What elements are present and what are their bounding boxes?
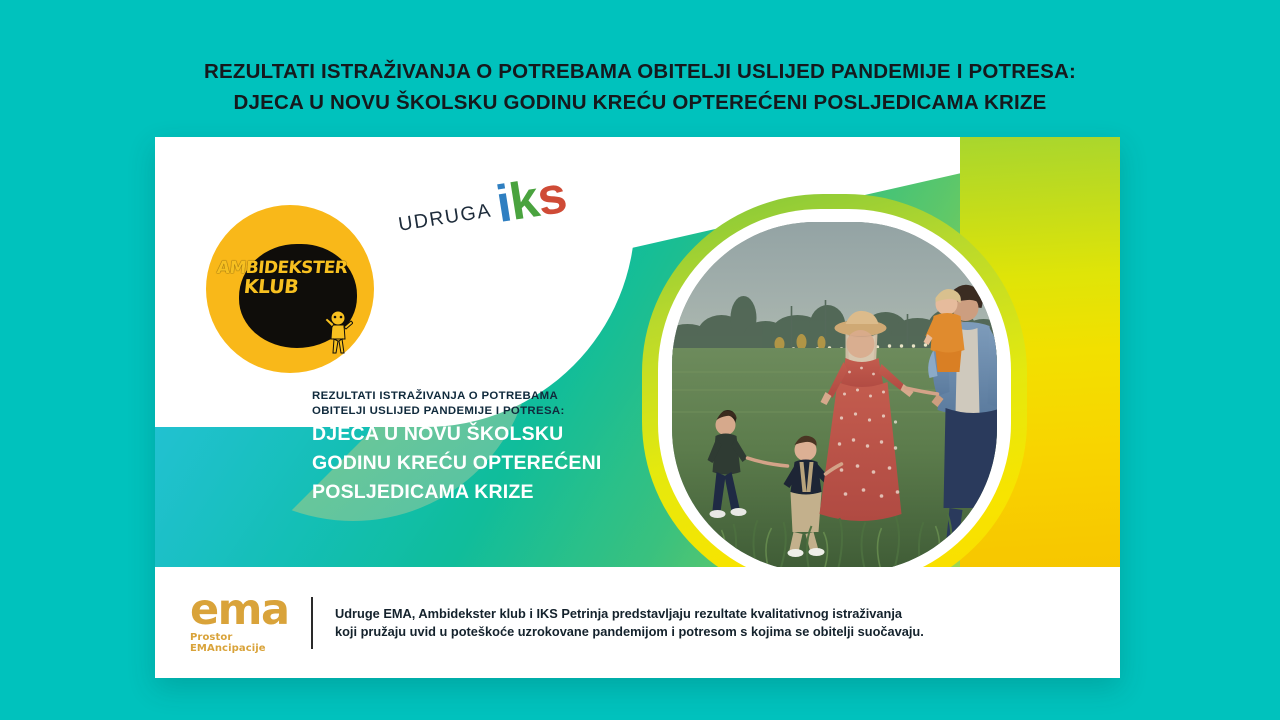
photo-frame [642, 194, 1027, 600]
inner-subtitle-line-1: REZULTATI ISTRAŽIVANJA O POTREBAMA [312, 389, 662, 404]
ema-tagline: Prostor EMAncipacije [190, 632, 307, 654]
headline-line-1: REZULTATI ISTRAŽIVANJA O POTREBAMA OBITE… [0, 56, 1280, 87]
inner-subtitle-line-2: OBITELJI USLIJED PANDEMIJE I POTRESA: [312, 404, 662, 419]
ema-wordmark: ema [190, 591, 307, 631]
card-inner-title: REZULTATI ISTRAŽIVANJA O POTREBAMA OBITE… [312, 389, 662, 505]
card-footer: ema Prostor EMAncipacije Udruge EMA, Amb… [155, 567, 1120, 678]
inner-title-line-2: GODINU KREĆU OPTEREĆENI [312, 451, 662, 476]
page-headline: REZULTATI ISTRAŽIVANJA O POTREBAMA OBITE… [0, 56, 1280, 118]
footer-copy-line-1: Udruge EMA, Ambidekster klub i IKS Petri… [335, 605, 924, 623]
ambidekster-mascot-icon [323, 310, 353, 354]
inner-title-line-1: DJECA U NOVU ŠKOLSKU [312, 422, 662, 447]
presentation-card: AMBIDEKSTER KLUB [155, 137, 1120, 678]
footer-divider [311, 597, 313, 649]
ambidekster-word-line-1: AMBIDEKSTER [206, 260, 358, 277]
ema-logo: ema Prostor EMAncipacije [155, 591, 307, 655]
inner-title-line-3: POSLJEDICAMA KRIZE [312, 480, 662, 505]
family-in-field-photo [672, 222, 997, 572]
headline-line-2: DJECA U NOVU ŠKOLSKU GODINU KREĆU OPTERE… [0, 87, 1280, 118]
ambidekster-blob-shape: AMBIDEKSTER KLUB [239, 244, 357, 348]
ambidekster-klub-logo: AMBIDEKSTER KLUB [206, 205, 374, 373]
footer-copy: Udruge EMA, Ambidekster klub i IKS Petri… [335, 605, 924, 640]
iks-wordmark: i k s [493, 173, 568, 227]
footer-copy-line-2: koji pružaju uvid u poteškoće uzrokovane… [335, 623, 924, 641]
ambidekster-wordmark: AMBIDEKSTER KLUB [207, 260, 357, 297]
ambidekster-word-line-2: KLUB [184, 278, 358, 297]
